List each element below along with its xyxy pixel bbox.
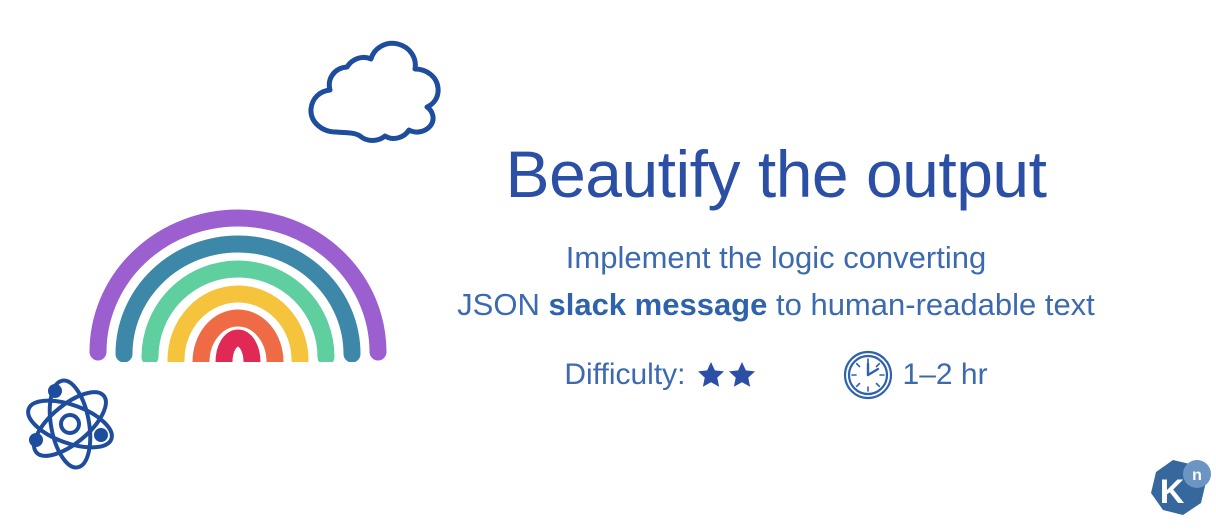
difficulty-stars bbox=[696, 360, 757, 390]
subtitle-line-2-suffix: to human-readable text bbox=[767, 287, 1094, 322]
logo-badge-letter: n bbox=[1192, 467, 1202, 484]
knowledge-badge-logo: K n bbox=[1146, 458, 1212, 520]
subtitle-line-2: JSON slack message to human-readable tex… bbox=[420, 282, 1132, 329]
duration-meta: 1–2 hr bbox=[843, 350, 988, 400]
content-block: Beautify the output Implement the logic … bbox=[420, 140, 1132, 400]
page-title: Beautify the output bbox=[420, 140, 1132, 209]
difficulty-meta: Difficulty: bbox=[564, 358, 756, 392]
rainbow-icon bbox=[78, 182, 398, 362]
clock-icon bbox=[843, 350, 893, 400]
duration-label: 1–2 hr bbox=[903, 358, 988, 392]
task-card: Beautify the output Implement the logic … bbox=[0, 0, 1216, 532]
star-icon bbox=[696, 360, 726, 390]
difficulty-label: Difficulty: bbox=[564, 358, 685, 392]
subtitle-line-2-prefix: JSON bbox=[457, 287, 548, 322]
atom-icon bbox=[18, 372, 122, 476]
subtitle-line-1: Implement the logic converting bbox=[420, 235, 1132, 282]
logo-mark-letter: K bbox=[1160, 473, 1185, 511]
meta-row: Difficulty: bbox=[420, 350, 1132, 400]
subtitle-line-2-strong: slack message bbox=[548, 287, 767, 322]
subtitle: Implement the logic converting JSON slac… bbox=[420, 235, 1132, 328]
cloud-icon bbox=[300, 38, 452, 143]
star-icon bbox=[727, 360, 757, 390]
